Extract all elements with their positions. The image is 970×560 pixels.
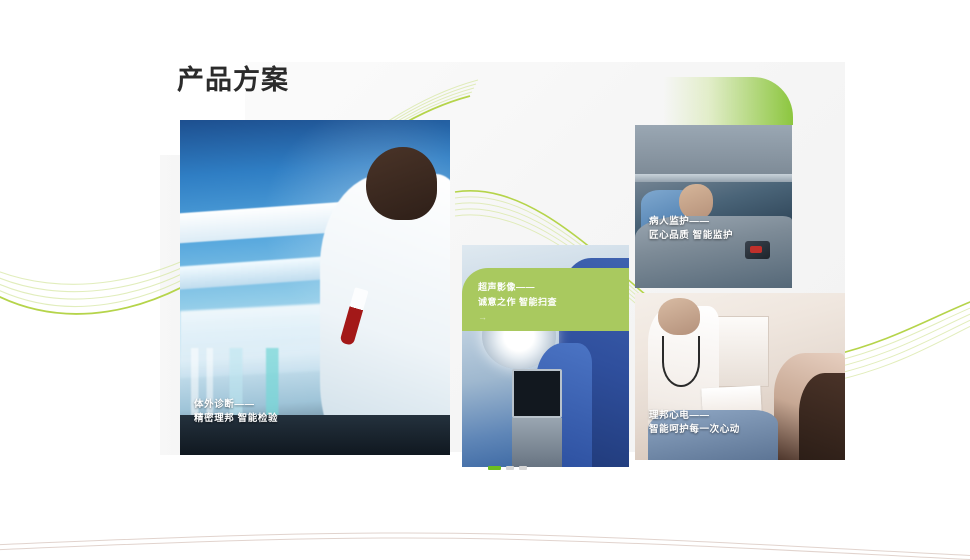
caption-line-2: 精密理邦 智能检验 [194,412,278,427]
doctor-head-decor [658,298,700,335]
card-in-vitro-diagnostics[interactable]: 体外诊断—— 精密理邦 智能检验 [180,120,450,455]
card-caption: 理邦心电—— 智能呵护每一次心动 [649,409,740,438]
caption-line-2: 匠心品质 智能监护 [649,229,733,244]
green-accent-block [663,77,793,125]
ultrasound-cart-decor [512,418,562,467]
slide-canvas: 产品方案 体外诊断—— 精密理邦 智能检验 超声影像—— 诚意之作 智能扫查 → [0,0,970,560]
hospital-wall-decor [635,125,792,180]
stethoscope-decor [662,336,700,386]
card-ultrasound-info-panel[interactable]: 超声影像—— 诚意之作 智能扫查 → [462,268,629,331]
caption-line-1: 理邦心电—— [649,409,740,424]
card-caption: 体外诊断—— 精密理邦 智能检验 [194,398,278,427]
card-edan-ecg[interactable]: 理邦心电—— 智能呵护每一次心动 [635,293,845,460]
green-card-line-1: 超声影像—— [478,280,535,293]
caption-line-2: 智能呵护每一次心动 [649,423,740,438]
ultrasound-monitor-decor [512,369,562,418]
card-patient-monitoring[interactable]: 病人监护—— 匠心品质 智能监护 [635,125,792,288]
green-card-line-2: 诚意之作 智能扫查 [478,295,557,308]
pagination-dot-1[interactable] [488,466,501,470]
patient-hair-decor [799,373,845,460]
lab-shelf-lower-decor [180,255,342,290]
technician-head-decor [366,147,436,221]
pagination-dot-3[interactable] [519,466,527,470]
caption-line-1: 病人监护—— [649,215,733,230]
caption-line-1: 体外诊断—— [194,398,278,413]
page-title: 产品方案 [177,64,289,96]
arrow-right-icon[interactable]: → [478,313,487,322]
card-caption: 病人监护—— 匠心品质 智能监护 [649,215,733,244]
bed-rail-decor [635,174,792,182]
carousel-pagination[interactable] [488,466,527,470]
spo2-probe-decor [745,241,770,259]
wall-panel-decor [715,316,770,386]
pagination-dot-2[interactable] [506,466,514,470]
